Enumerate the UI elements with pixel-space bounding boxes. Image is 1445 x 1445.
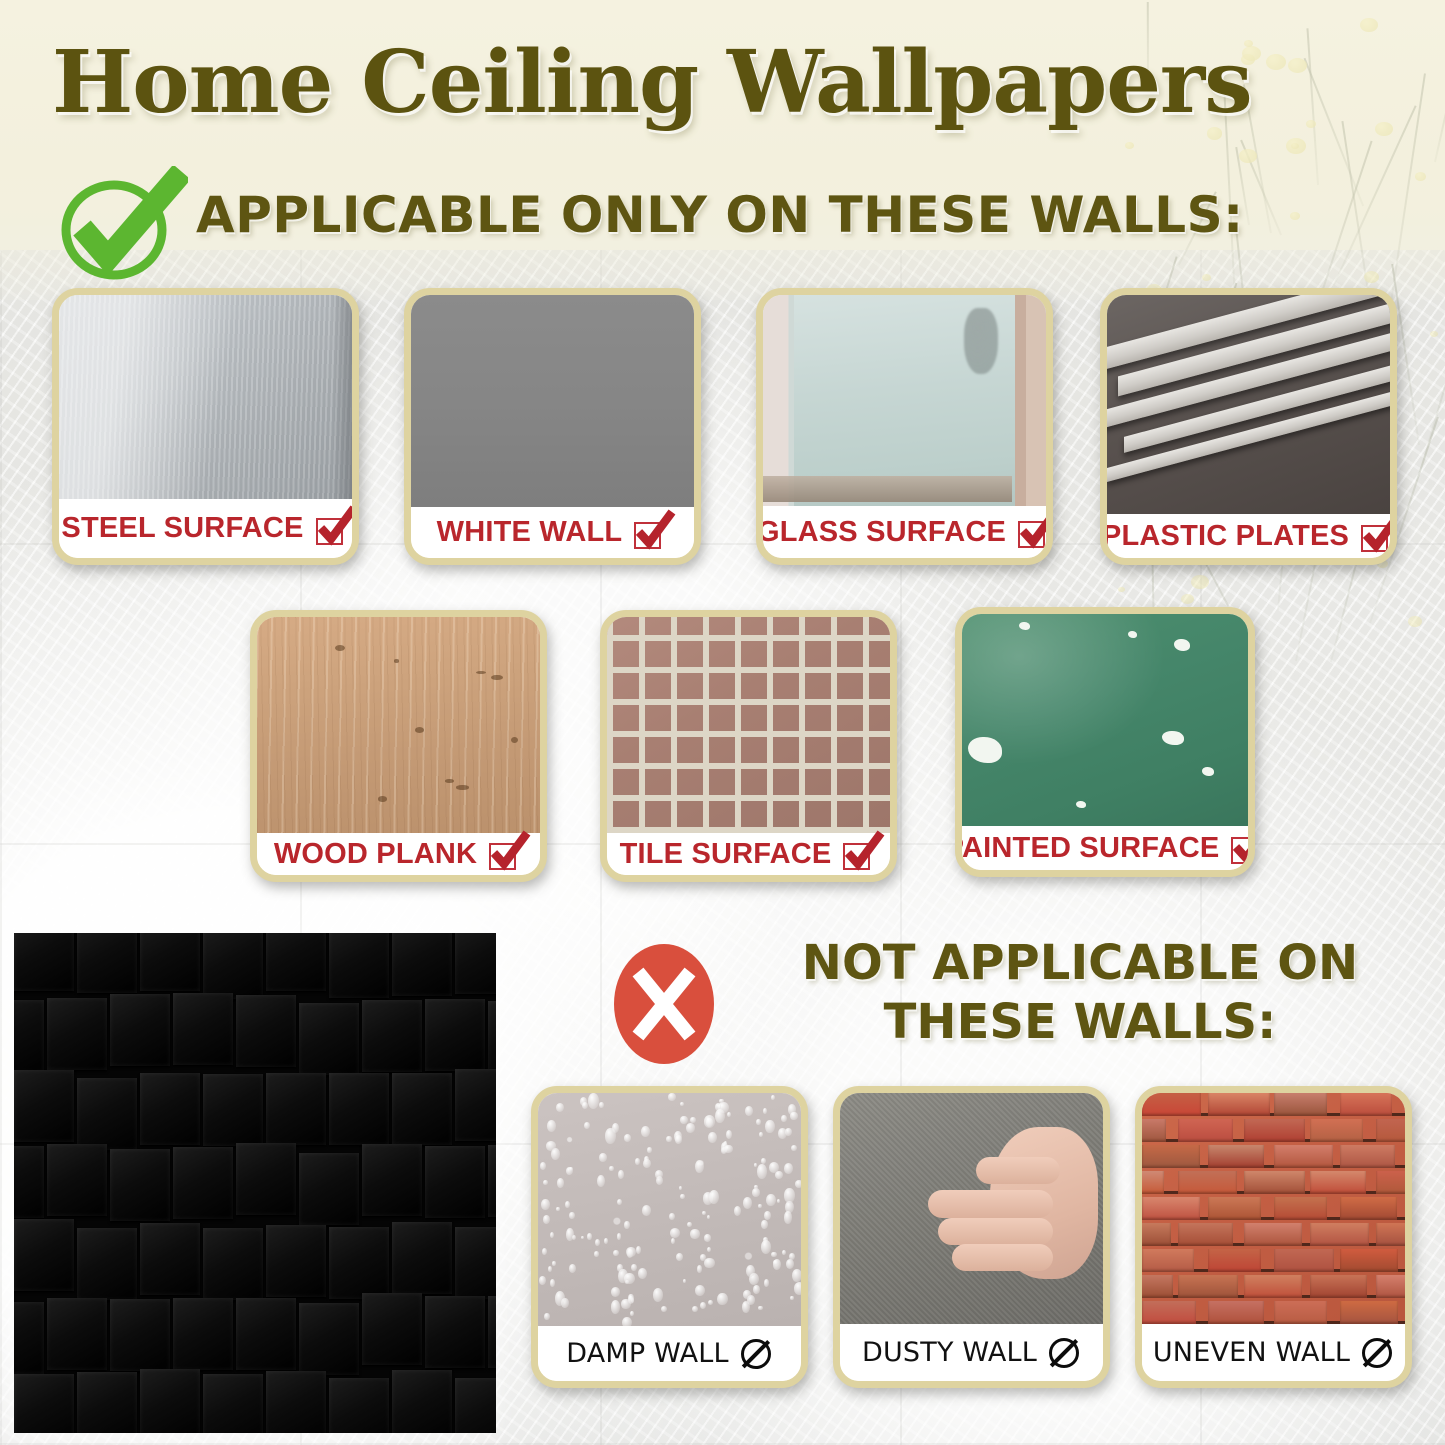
card-label-strip: TILE SURFACE: [607, 833, 890, 875]
card-label-strip: DUSTY WALL: [840, 1324, 1103, 1381]
card-label-strip: PLASTIC PLATES: [1107, 514, 1390, 558]
card-steel-surface[interactable]: STEEL SURFACE: [52, 288, 359, 565]
check-mark-icon: [1359, 519, 1395, 553]
check-mark-icon: [1016, 515, 1052, 549]
card-tile-surface[interactable]: TILE SURFACE: [600, 610, 897, 882]
black-3d-foam-brick-panel: [14, 933, 496, 1433]
check-mark-icon: [632, 516, 668, 550]
card-label-strip: WHITE WALL: [411, 507, 694, 558]
dusty-wall-photo: [840, 1093, 1103, 1324]
card-label: PLASTIC PLATES: [1102, 520, 1349, 553]
card-label-strip: WOOD PLANK: [257, 833, 540, 875]
glass-surface-photo: [763, 295, 1046, 506]
card-label-strip: DAMP WALL: [538, 1326, 801, 1381]
card-label: TILE SURFACE: [620, 838, 832, 871]
red-x-circle-icon: [612, 942, 716, 1066]
not-applicable-heading: NOT APPLICABLE ON THESE WALLS:: [735, 934, 1425, 1051]
card-label: PAINTED SURFACE: [955, 832, 1219, 865]
check-mark-icon: [841, 837, 877, 871]
page-title: Home Ceiling Wallpapers: [52, 32, 1412, 133]
card-label: DUSTY WALL: [862, 1337, 1037, 1368]
prohibited-icon: [1047, 1336, 1081, 1370]
card-painted-surface[interactable]: PAINTED SURFACE: [955, 607, 1255, 877]
plastic-plates-photo: [1107, 295, 1390, 514]
check-mark-icon: [1229, 831, 1255, 865]
card-label: DAMP WALL: [566, 1338, 729, 1369]
card-label-strip: GLASS SURFACE: [763, 506, 1046, 558]
infographic-poster: Home Ceiling Wallpapers APPLICABLE ONLY …: [0, 0, 1445, 1445]
damp-wall-photo: [538, 1093, 801, 1326]
prohibited-icon: [739, 1337, 773, 1371]
card-wood-plank[interactable]: WOOD PLANK: [250, 610, 547, 882]
card-label-strip: UNEVEN WALL: [1142, 1324, 1405, 1381]
painted-surface-photo: [962, 614, 1248, 826]
card-label: WOOD PLANK: [274, 838, 477, 871]
card-label: STEEL SURFACE: [61, 512, 303, 545]
card-label-strip: STEEL SURFACE: [59, 499, 352, 558]
card-damp-wall[interactable]: DAMP WALL: [531, 1086, 808, 1388]
card-white-wall[interactable]: WHITE WALL: [404, 288, 701, 565]
prohibited-icon: [1360, 1336, 1394, 1370]
green-check-circle-icon: [58, 166, 188, 284]
card-label: UNEVEN WALL: [1153, 1337, 1350, 1368]
wood-plank-photo: [257, 617, 540, 833]
card-glass-surface[interactable]: GLASS SURFACE: [756, 288, 1053, 565]
white-wall-photo: [411, 295, 694, 507]
steel-surface-photo: [59, 295, 352, 499]
applicable-heading: APPLICABLE ONLY ON THESE WALLS:: [196, 186, 1244, 244]
check-mark-icon: [487, 837, 523, 871]
card-plastic-plates[interactable]: PLASTIC PLATES: [1100, 288, 1397, 565]
card-label-strip: PAINTED SURFACE: [962, 826, 1248, 870]
card-dusty-wall[interactable]: DUSTY WALL: [833, 1086, 1110, 1388]
check-mark-icon: [314, 512, 350, 546]
tile-surface-photo: [607, 617, 890, 833]
card-label: WHITE WALL: [437, 516, 623, 549]
card-uneven-wall[interactable]: UNEVEN WALL: [1135, 1086, 1412, 1388]
uneven-brick-wall-photo: [1142, 1093, 1405, 1324]
card-label: GLASS SURFACE: [757, 516, 1006, 549]
